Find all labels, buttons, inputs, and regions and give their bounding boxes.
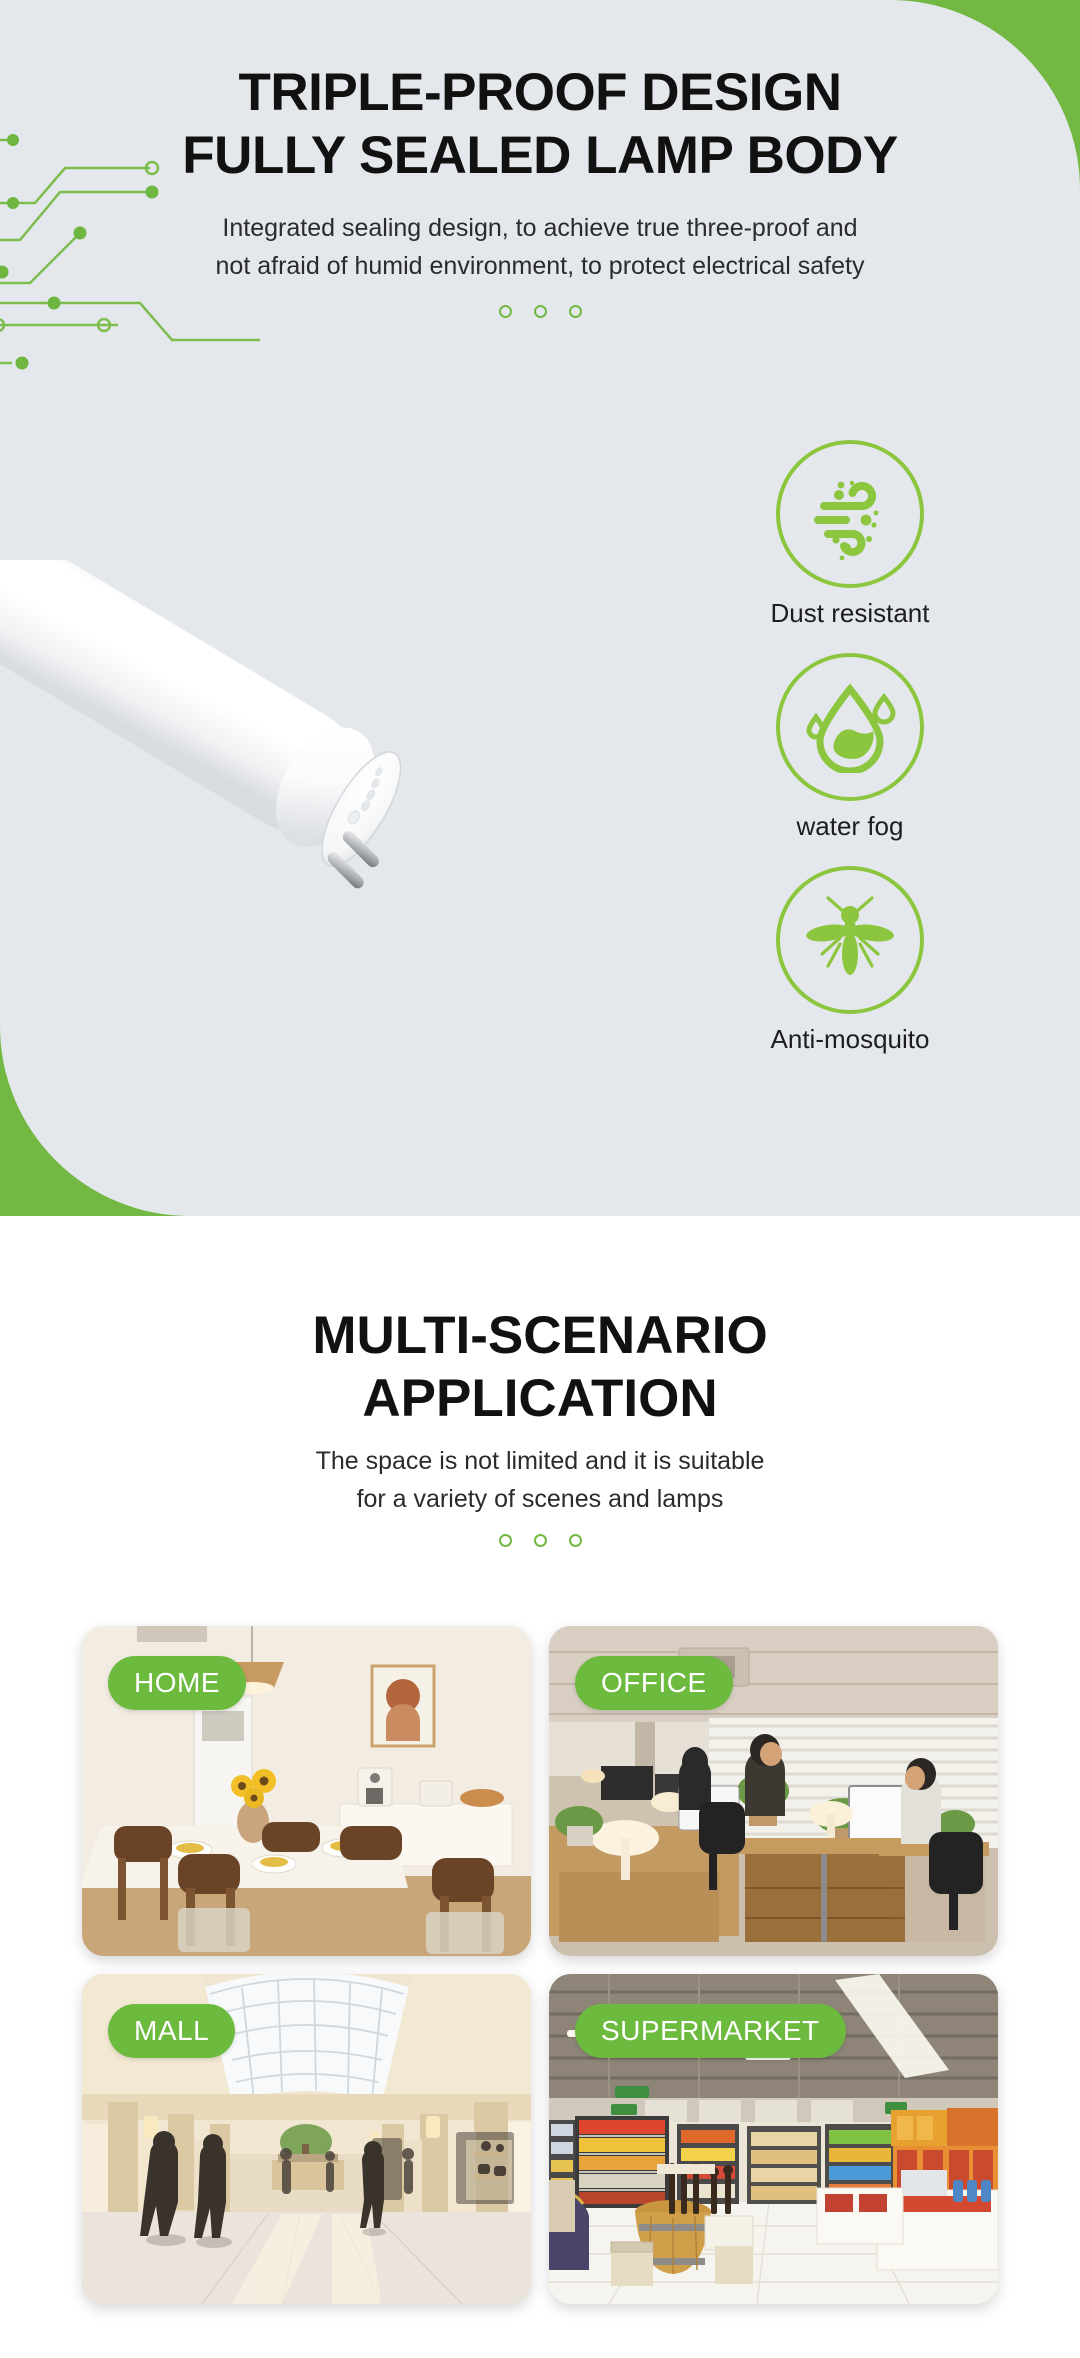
- scenarios-title: MULTI-SCENARIO APPLICATION: [0, 1305, 1080, 1430]
- scenario-card-home[interactable]: HOME: [82, 1626, 531, 1956]
- hero-dots-row: [0, 305, 1080, 318]
- scenarios-subtitle: The space is not limited and it is suita…: [0, 1443, 1080, 1518]
- scenario-card-supermarket[interactable]: SUPERMARKET: [549, 1974, 998, 2304]
- hero-subtitle-line-1: Integrated sealing design, to achieve tr…: [0, 210, 1080, 248]
- feature-label: water fog: [700, 811, 1000, 842]
- feature-icon-ring: [776, 653, 924, 801]
- hero-title-line-2: FULLY SEALED LAMP BODY: [0, 125, 1080, 188]
- scenarios-dots-row: [0, 1534, 1080, 1547]
- feature-item-anti-mosquito: Anti-mosquito: [700, 866, 1000, 1055]
- led-tube-product-image: [0, 560, 660, 980]
- product-detail-page: TRIPLE-PROOF DESIGN FULLY SEALED LAMP BO…: [0, 0, 1080, 2358]
- scenarios-subtitle-line-1: The space is not limited and it is suita…: [0, 1443, 1080, 1481]
- feature-item-water-fog: water fog: [700, 653, 1000, 842]
- feature-item-dust-resistant: Dust resistant: [700, 440, 1000, 629]
- scenario-badge: SUPERMARKET: [575, 2004, 846, 2058]
- scenario-card-mall[interactable]: MALL: [82, 1974, 531, 2304]
- hero-title: TRIPLE-PROOF DESIGN FULLY SEALED LAMP BO…: [0, 62, 1080, 187]
- scenarios-section: MULTI-SCENARIO APPLICATION The space is …: [0, 1245, 1080, 2358]
- feature-list: Dust resistant water fog: [700, 440, 1000, 1079]
- dot-ring-icon: [569, 305, 582, 318]
- hero-subtitle-line-2: not afraid of humid environment, to prot…: [0, 248, 1080, 286]
- scenario-badge: MALL: [108, 2004, 235, 2058]
- scenario-card-grid: HOME: [82, 1626, 998, 2304]
- scenarios-title-line-2: APPLICATION: [0, 1368, 1080, 1431]
- dot-ring-icon: [569, 1534, 582, 1547]
- hero-subtitle: Integrated sealing design, to achieve tr…: [0, 210, 1080, 285]
- wind-dust-icon: [804, 468, 896, 560]
- scenario-badge: HOME: [108, 1656, 246, 1710]
- feature-label: Anti-mosquito: [700, 1024, 1000, 1055]
- scenario-badge: OFFICE: [575, 1656, 733, 1710]
- scenarios-subtitle-line-2: for a variety of scenes and lamps: [0, 1481, 1080, 1519]
- water-drop-icon: [804, 681, 896, 773]
- feature-label: Dust resistant: [700, 598, 1000, 629]
- dot-ring-icon: [534, 305, 547, 318]
- hero-title-line-1: TRIPLE-PROOF DESIGN: [0, 62, 1080, 125]
- feature-icon-ring: [776, 440, 924, 588]
- dot-ring-icon: [534, 1534, 547, 1547]
- scenarios-title-line-1: MULTI-SCENARIO: [0, 1305, 1080, 1368]
- mosquito-icon: [802, 892, 898, 988]
- feature-icon-ring: [776, 866, 924, 1014]
- hero-section: TRIPLE-PROOF DESIGN FULLY SEALED LAMP BO…: [0, 0, 1080, 1245]
- dot-ring-icon: [499, 305, 512, 318]
- scenario-card-office[interactable]: OFFICE: [549, 1626, 998, 1956]
- dot-ring-icon: [499, 1534, 512, 1547]
